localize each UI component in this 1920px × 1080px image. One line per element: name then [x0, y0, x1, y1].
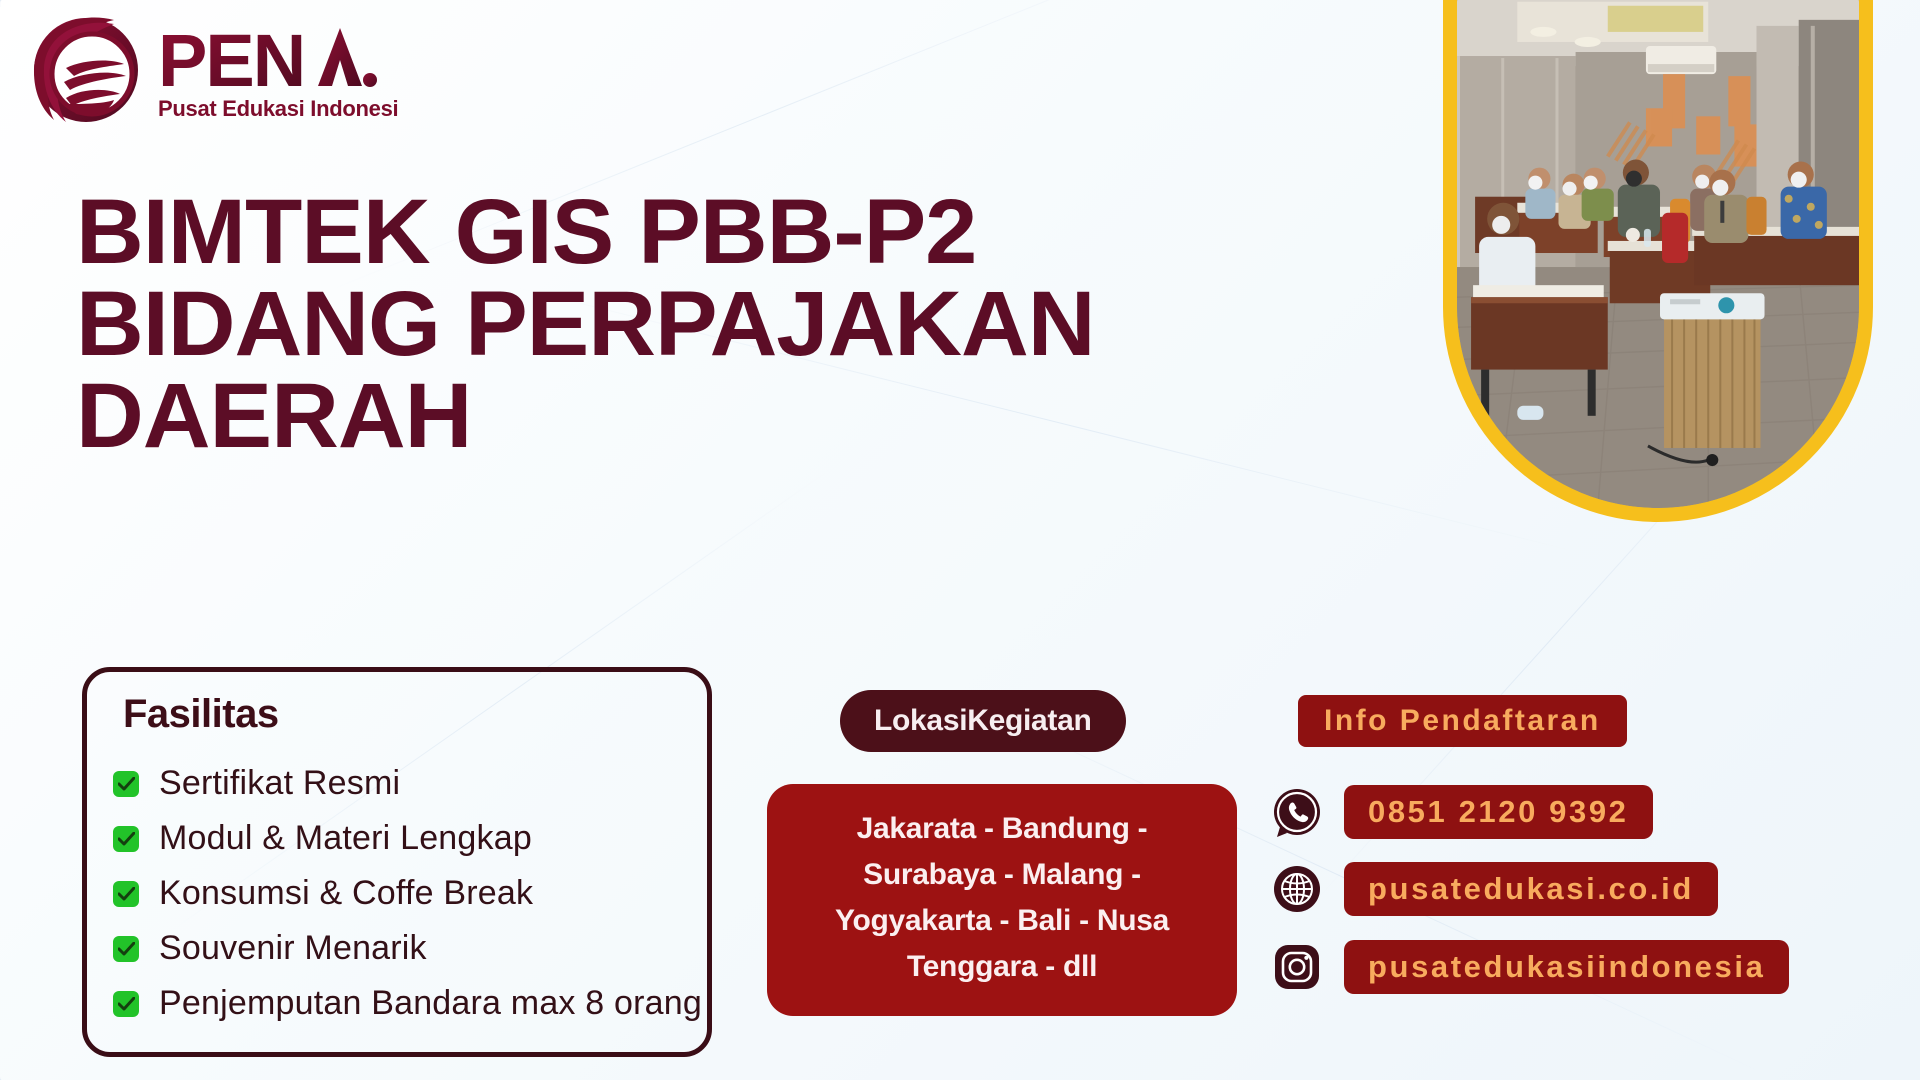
whatsapp-number[interactable]: 0851 2120 9392 [1344, 785, 1653, 839]
check-box-icon [113, 881, 139, 907]
instagram-icon [1272, 942, 1322, 992]
seminar-photo-frame [1443, 0, 1873, 522]
fasilitas-item-label: Modul & Materi Lengkap [159, 819, 532, 858]
brand-logo: PEN Pusat Edukasi Indonesia [18, 8, 398, 133]
list-item: Sertifikat Resmi [113, 756, 697, 811]
contact-row-whatsapp[interactable]: 0851 2120 9392 [1272, 785, 1653, 839]
website-url[interactable]: pusatedukasi.co.id [1344, 862, 1718, 916]
check-box-icon [113, 991, 139, 1017]
instagram-handle[interactable]: pusatedukasiindonesia [1344, 940, 1789, 994]
fasilitas-card: Fasilitas Sertifikat Resmi Modul & Mater… [82, 667, 712, 1057]
pena-feather-circle-icon [34, 17, 138, 122]
whatsapp-icon [1272, 787, 1322, 837]
check-box-icon [113, 826, 139, 852]
headline-line-3: DAERAH [76, 370, 1167, 462]
fasilitas-title: Fasilitas [123, 692, 279, 737]
list-item: Penjemputan Bandara max 8 orang [113, 976, 697, 1031]
fasilitas-list: Sertifikat Resmi Modul & Materi Lengkap … [113, 756, 697, 1031]
svg-text:Pusat Edukasi Indonesia: Pusat Edukasi Indonesia [158, 96, 398, 121]
list-item: Modul & Materi Lengkap [113, 811, 697, 866]
check-box-icon [113, 771, 139, 797]
lokasi-cities-box: Jakarata - Bandung - Surabaya - Malang -… [767, 784, 1237, 1016]
page-title: BIMTEK GIS PBB-P2 BIDANG PERPAJAKAN DAER… [76, 186, 1167, 462]
headline-line-1: BIMTEK GIS PBB-P2 [76, 186, 1167, 278]
lokasi-kegiatan-badge: LokasiKegiatan [840, 690, 1126, 752]
info-pendaftaran-badge: Info Pendaftaran [1298, 695, 1627, 747]
fasilitas-item-label: Sertifikat Resmi [159, 764, 400, 803]
globe-icon [1272, 864, 1322, 914]
headline-line-2: BIDANG PERPAJAKAN [76, 278, 1167, 370]
contact-row-website[interactable]: pusatedukasi.co.id [1272, 862, 1718, 916]
svg-text:PEN: PEN [158, 19, 304, 102]
fasilitas-item-label: Souvenir Menarik [159, 929, 427, 968]
poster-canvas: PEN Pusat Edukasi Indonesia BIMTEK GIS P… [0, 0, 1920, 1080]
list-item: Souvenir Menarik [113, 921, 697, 976]
seminar-photo [1457, 0, 1859, 508]
pena-wordmark: PEN [158, 19, 377, 102]
list-item: Konsumsi & Coffe Break [113, 866, 697, 921]
fasilitas-item-label: Konsumsi & Coffe Break [159, 874, 533, 913]
contact-row-instagram[interactable]: pusatedukasiindonesia [1272, 940, 1789, 994]
fasilitas-item-label: Penjemputan Bandara max 8 orang [159, 984, 702, 1023]
check-box-icon [113, 936, 139, 962]
